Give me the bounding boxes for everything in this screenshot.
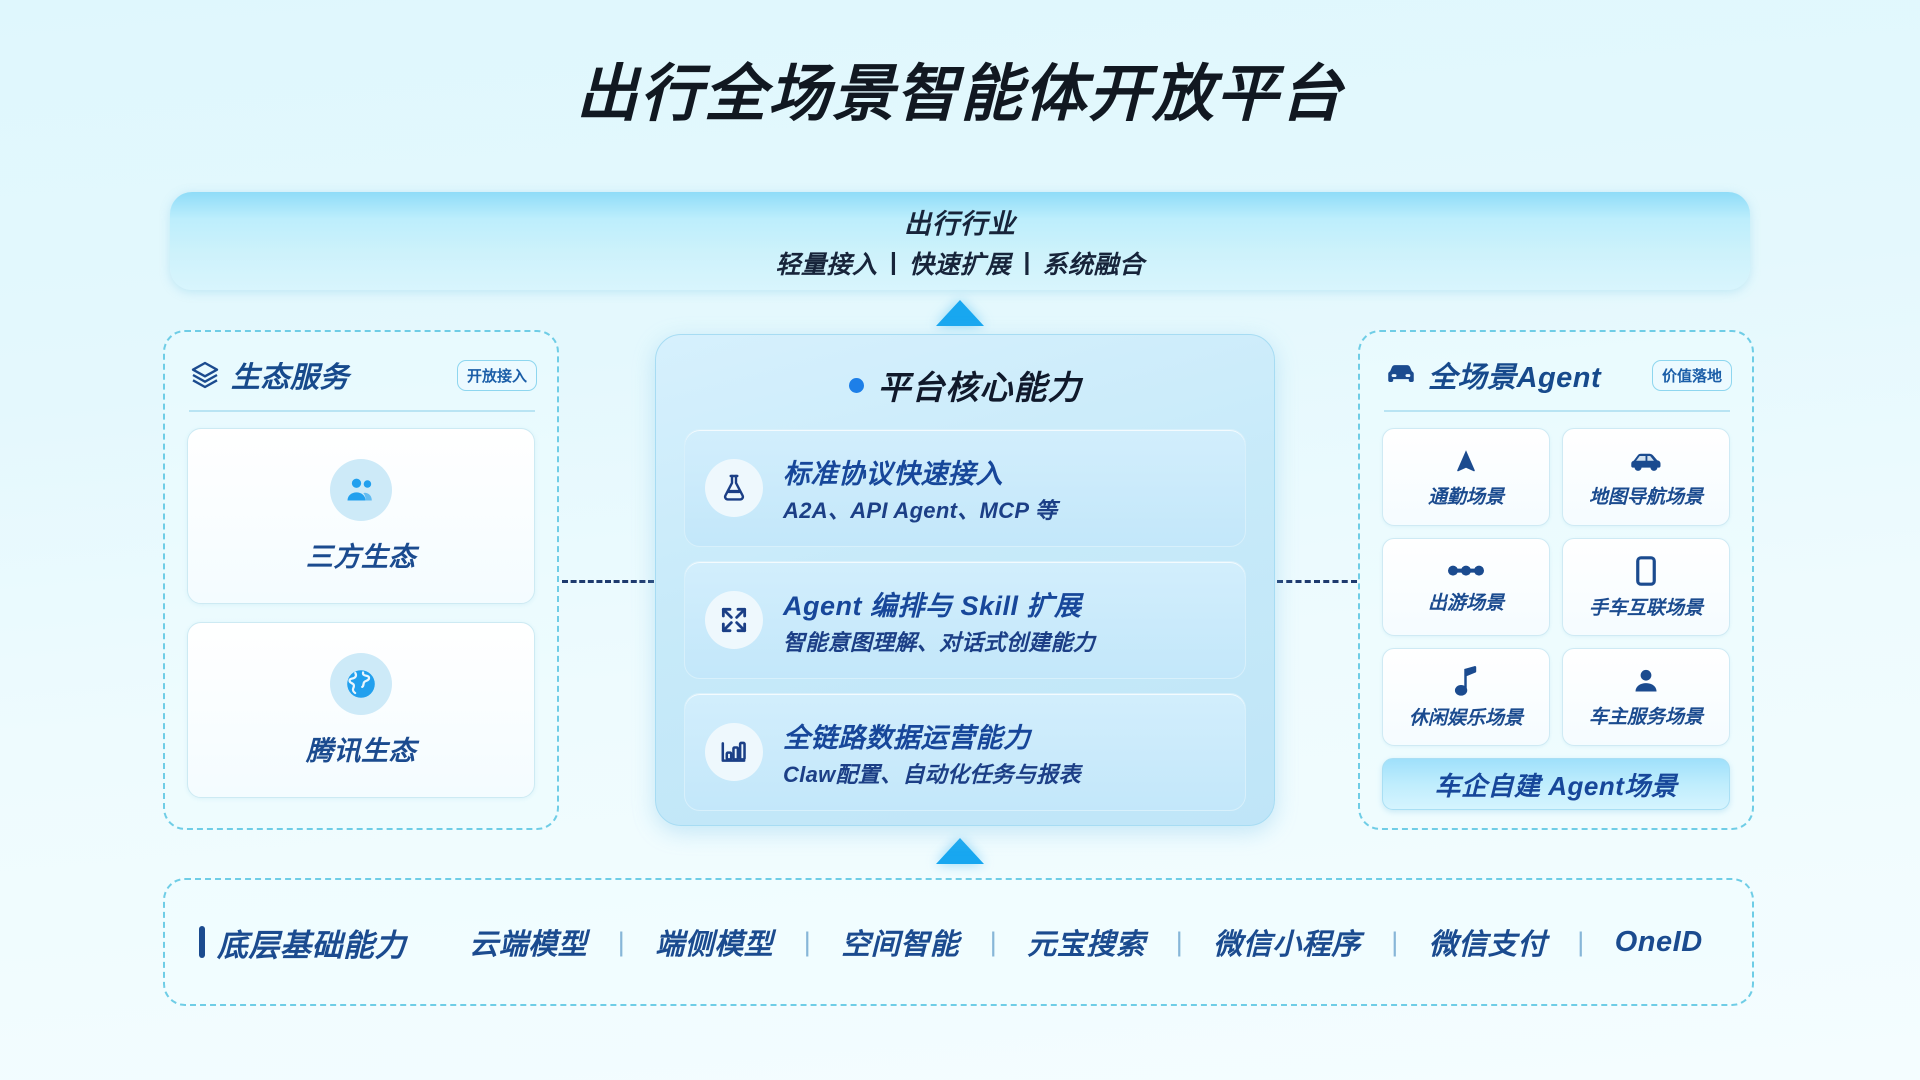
banner-separator-1: | [1021, 248, 1033, 277]
scene-highlight-oem-self-built[interactable]: 车企自建 Agent场景 [1382, 758, 1730, 810]
foundation-divider: | [618, 927, 625, 958]
foundation-divider: | [990, 927, 997, 958]
ecosystem-services-panel: 生态服务 开放接入 三方生态 腾讯 [163, 330, 559, 830]
scene-tile-travel[interactable]: 出游场景 [1382, 538, 1550, 636]
capability-subtitle: Claw配置、自动化任务与报表 [783, 757, 1081, 789]
foundation-item[interactable]: 微信小程序 [1213, 921, 1361, 963]
foundation-divider: | [1577, 927, 1584, 958]
foundation-item-list: 云端模型 | 端侧模型 | 空间智能 | 元宝搜索 | 微信小程序 | 微信支付… [454, 921, 1718, 963]
connector-core-to-right [1277, 580, 1357, 583]
capability-row-protocol[interactable]: 标准协议快速接入 A2A、API Agent、MCP 等 [684, 429, 1246, 547]
full-scenario-agent-panel: 全场景Agent 价值落地 通勤场景 [1358, 330, 1754, 830]
navigation-arrow-icon [1451, 446, 1481, 476]
car-side-icon [1629, 446, 1663, 476]
scene-tile-phone-car-link[interactable]: 手车互联场景 [1562, 538, 1730, 636]
eco-card-label: 三方生态 [306, 535, 416, 574]
foundation-item[interactable]: 云端模型 [469, 921, 587, 963]
expand-arrows-icon [705, 591, 763, 649]
eco-card-third-party[interactable]: 三方生态 [187, 428, 535, 604]
bar-chart-icon [705, 723, 763, 781]
banner-separator-0: | [887, 248, 899, 277]
scene-label: 车主服务场景 [1589, 702, 1703, 729]
capability-text: 标准协议快速接入 A2A、API Agent、MCP 等 [783, 452, 1057, 525]
scene-label: 手车互联场景 [1589, 593, 1703, 620]
foundation-item[interactable]: 元宝搜索 [1027, 921, 1145, 963]
scene-tile-grid: 通勤场景 地图导航场景 [1382, 428, 1730, 746]
globe-icon [330, 653, 392, 715]
scene-label: 通勤场景 [1428, 482, 1504, 509]
ecosystem-panel-title: 生态服务 [231, 354, 349, 396]
layers-icon [189, 359, 221, 391]
people-icon [330, 459, 392, 521]
foundation-heading-group: 底层基础能力 [199, 920, 406, 965]
scene-tile-map-navigation[interactable]: 地图导航场景 [1562, 428, 1730, 526]
capability-title: 全链路数据运营能力 [783, 716, 1081, 755]
foundation-capabilities-panel: 底层基础能力 云端模型 | 端侧模型 | 空间智能 | 元宝搜索 | 微信小程序… [163, 878, 1754, 1006]
connector-left-to-core [562, 580, 654, 583]
phone-icon [1634, 555, 1658, 587]
arrow-up-to-banner-icon [936, 300, 984, 326]
ecosystem-panel-body: 三方生态 腾讯生态 [165, 412, 557, 798]
eco-card-label: 腾讯生态 [306, 729, 416, 768]
route-dots-icon [1446, 560, 1486, 582]
banner-tags: 轻量接入 | 快速扩展 | 系统融合 [775, 245, 1144, 281]
scene-highlight-label: 车企自建 Agent场景 [1435, 766, 1678, 803]
capability-title: Agent 编排与 Skill 扩展 [783, 584, 1095, 623]
foundation-item[interactable]: 端侧模型 [655, 921, 773, 963]
capability-subtitle: A2A、API Agent、MCP 等 [783, 493, 1057, 525]
core-panel-header: 平台核心能力 [684, 361, 1246, 409]
foundation-divider: | [804, 927, 811, 958]
banner-tag-0: 轻量接入 [775, 245, 877, 281]
foundation-item[interactable]: OneID [1615, 926, 1703, 959]
flask-icon [705, 459, 763, 517]
capability-row-data-ops[interactable]: 全链路数据运营能力 Claw配置、自动化任务与报表 [684, 693, 1246, 811]
capability-row-orchestration[interactable]: Agent 编排与 Skill 扩展 智能意图理解、对话式创建能力 [684, 561, 1246, 679]
foundation-heading: 底层基础能力 [217, 920, 406, 965]
foundation-divider: | [1391, 927, 1398, 958]
scene-label: 休闲娱乐场景 [1409, 703, 1523, 730]
foundation-item[interactable]: 空间智能 [841, 921, 959, 963]
scene-label: 地图导航场景 [1589, 482, 1703, 509]
user-icon [1631, 666, 1661, 696]
banner-tag-2: 系统融合 [1043, 245, 1145, 281]
capability-text: Agent 编排与 Skill 扩展 智能意图理解、对话式创建能力 [783, 584, 1095, 657]
agent-panel-header: 全场景Agent 价值落地 [1360, 332, 1752, 396]
car-front-icon [1384, 358, 1418, 392]
agent-panel-body: 通勤场景 地图导航场景 [1360, 412, 1752, 810]
capability-text: 全链路数据运营能力 Claw配置、自动化任务与报表 [783, 716, 1081, 789]
heading-marker-icon [199, 926, 205, 958]
ecosystem-panel-header: 生态服务 开放接入 [165, 332, 557, 396]
foundation-divider: | [1176, 927, 1183, 958]
banner-tag-1: 快速扩展 [909, 245, 1011, 281]
banner-heading: 出行行业 [904, 202, 1016, 241]
capability-title: 标准协议快速接入 [783, 452, 1057, 491]
agent-panel-badge: 价值落地 [1652, 360, 1732, 391]
scene-tile-entertainment[interactable]: 休闲娱乐场景 [1382, 648, 1550, 746]
bullet-dot-icon [849, 378, 864, 393]
arrow-up-to-core-icon [936, 838, 984, 864]
music-note-icon [1453, 665, 1479, 697]
page-title: 出行全场景智能体开放平台 [0, 0, 1920, 127]
scene-tile-owner-service[interactable]: 车主服务场景 [1562, 648, 1730, 746]
eco-card-tencent[interactable]: 腾讯生态 [187, 622, 535, 798]
capability-subtitle: 智能意图理解、对话式创建能力 [783, 625, 1095, 657]
agent-panel-title: 全场景Agent [1428, 354, 1601, 396]
industry-banner: 出行行业 轻量接入 | 快速扩展 | 系统融合 [170, 192, 1750, 290]
ecosystem-panel-badge: 开放接入 [457, 360, 537, 391]
foundation-item[interactable]: 微信支付 [1429, 921, 1547, 963]
scene-label: 出游场景 [1428, 588, 1504, 615]
core-panel-title: 平台核心能力 [878, 361, 1082, 409]
core-capabilities-panel: 平台核心能力 标准协议快速接入 A2A、API Agent、MCP 等 Agen… [655, 334, 1275, 826]
scene-tile-commute[interactable]: 通勤场景 [1382, 428, 1550, 526]
